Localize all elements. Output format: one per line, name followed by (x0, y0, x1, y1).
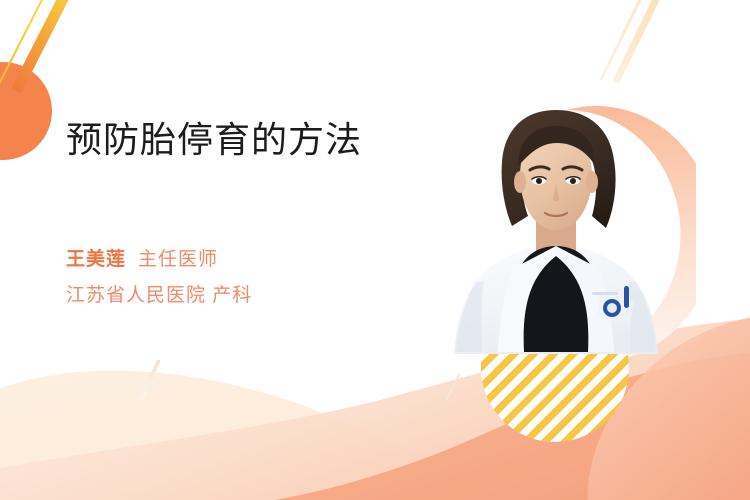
hospital-department: 江苏省人民医院 产科 (66, 282, 466, 310)
doctor-portrait (448, 96, 664, 368)
pupil-right (570, 178, 576, 184)
title-slide: 预防胎停育的方法 王美莲主任医师 江苏省人民医院 产科 (0, 0, 750, 500)
stripe-wide-orange (11, 0, 74, 94)
stripe-thin-yellow (0, 0, 50, 101)
ear-left (514, 171, 526, 193)
page-title: 预防胎停育的方法 (66, 118, 466, 162)
pocket-seam (592, 292, 618, 295)
stripe-faint-cream-1 (599, 0, 653, 81)
stripe-faint-cream-2 (613, 0, 671, 84)
doctor-name-line: 王美莲主任医师 (66, 246, 466, 274)
orange-circle-decoration (0, 62, 52, 160)
diagonal-stripes-top-right (628, 0, 698, 106)
doctor-role: 主任医师 (138, 249, 218, 270)
ear-right (586, 171, 598, 193)
portrait-svg (448, 96, 664, 368)
badge-inner (607, 303, 617, 313)
hairline-stroke-left (139, 359, 161, 401)
doctor-name: 王美莲 (66, 249, 126, 270)
speaker-credit-block: 王美莲主任医师 江苏省人民医院 产科 (66, 246, 466, 310)
pen-in-pocket (624, 286, 629, 308)
diagonal-stripes-top-left (18, 0, 98, 116)
pupil-left (536, 178, 542, 184)
title-block: 预防胎停育的方法 (66, 118, 466, 162)
